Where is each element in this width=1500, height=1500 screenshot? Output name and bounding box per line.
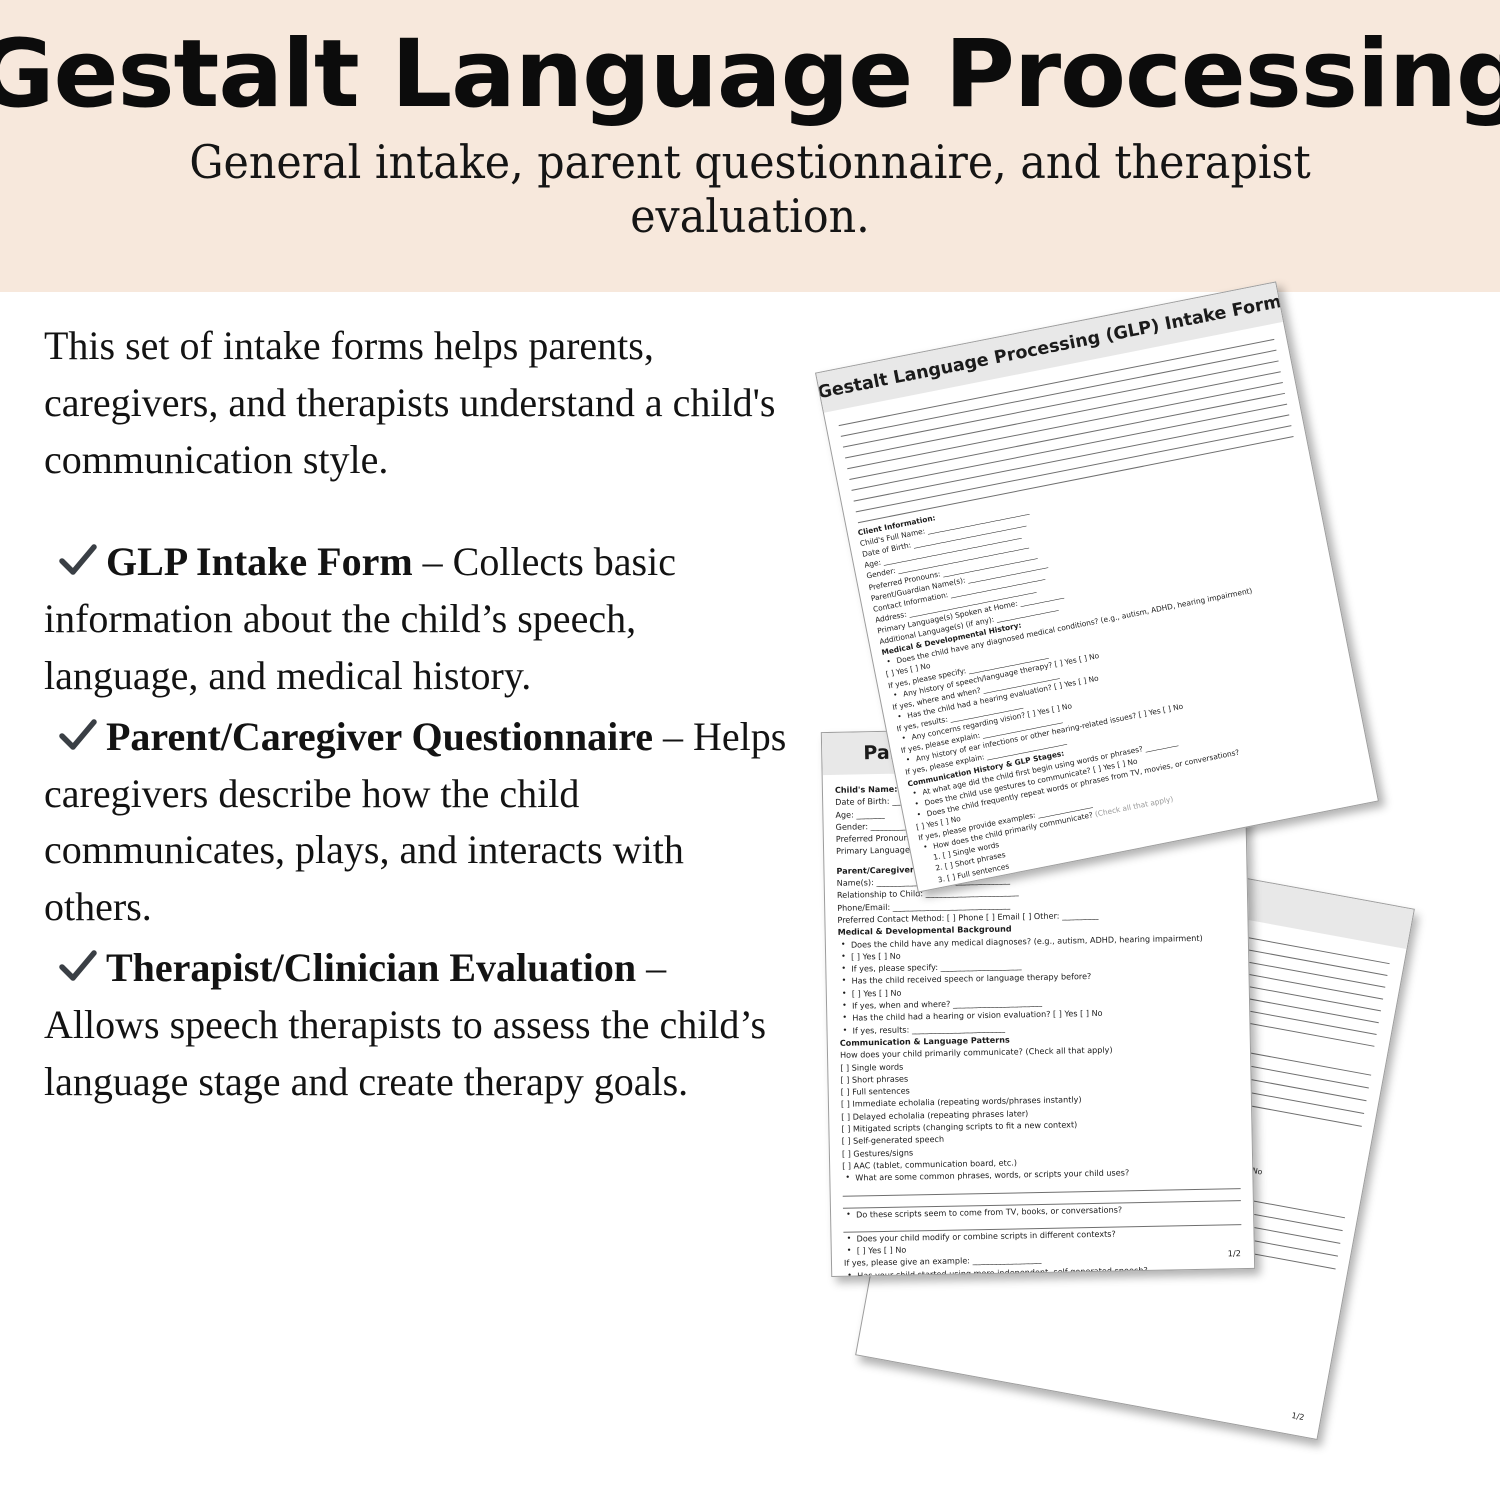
page-number: 1/2 [1228,1247,1241,1260]
date-label: Date: ____________ [1316,883,1379,892]
form-preview-stack: valuation Form nt): Where do the scripts… [0,0,1500,1500]
glp-intake-form-preview: Gestalt Language Processing (GLP) Intake… [815,281,1379,892]
page-number: 1/2 [1290,1410,1305,1424]
